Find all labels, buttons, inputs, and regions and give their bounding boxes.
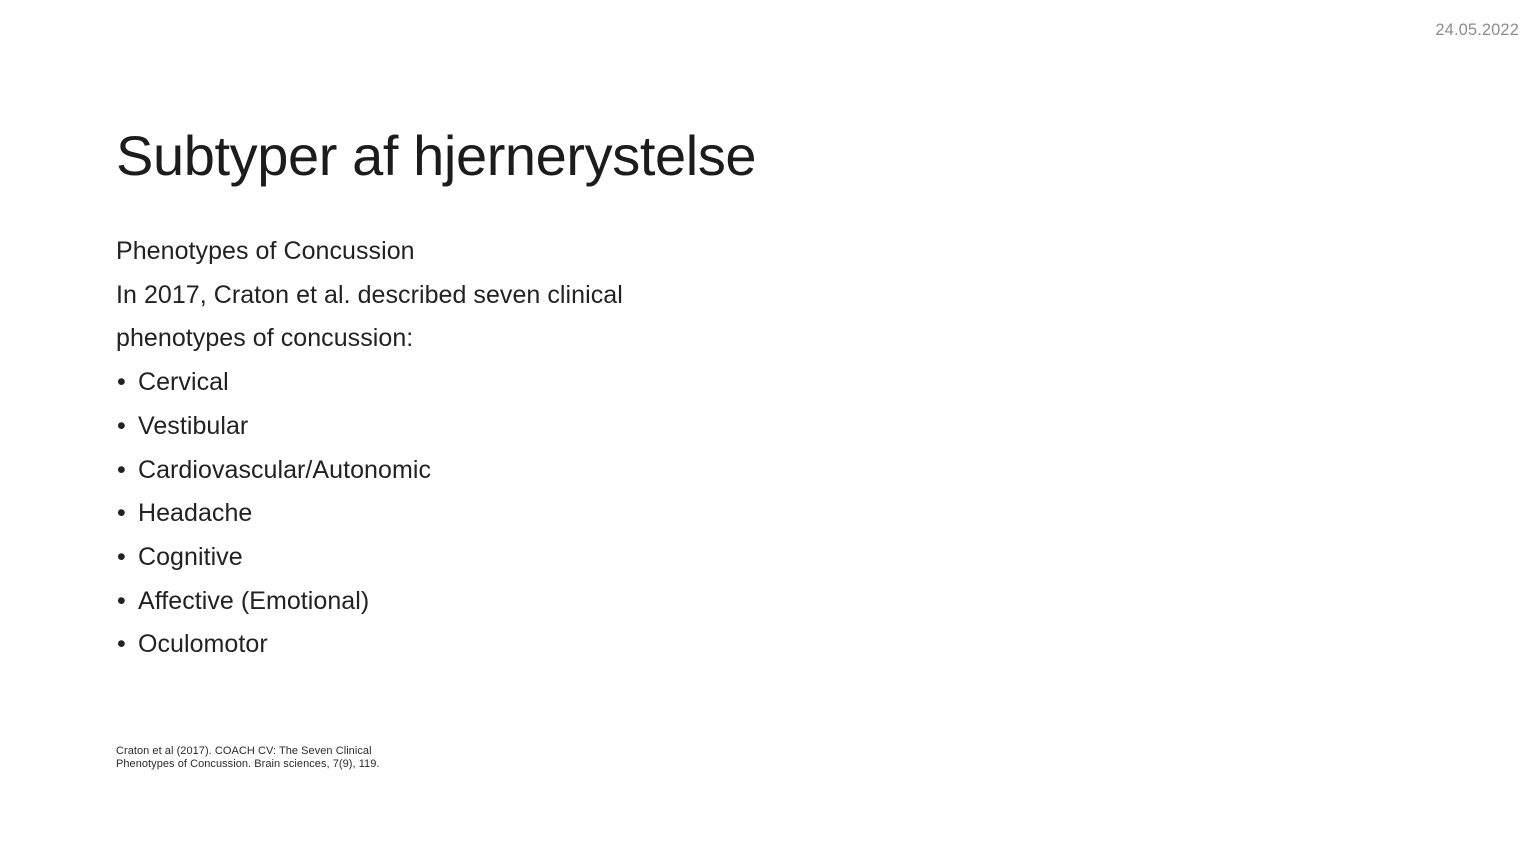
list-item: • Oculomotor <box>116 623 1016 667</box>
list-item-label: Cervical <box>138 368 229 396</box>
slide-date: 24.05.2022 <box>1435 19 1519 41</box>
citation-footnote: Craton et al (2017). COACH CV: The Seven… <box>116 745 379 771</box>
list-item: • Cognitive <box>116 536 1016 580</box>
page-title: Subtyper af hjernerystelse <box>116 121 756 191</box>
bullet-icon: • <box>117 623 126 667</box>
list-item-label: Cardiovascular/Autonomic <box>138 456 431 484</box>
list-item: • Vestibular <box>116 405 1016 449</box>
list-item-label: Vestibular <box>138 412 248 440</box>
list-item: • Cervical <box>116 361 1016 405</box>
presentation-slide: 24.05.2022 Subtyper af hjernerystelse Ph… <box>0 0 1536 864</box>
intro-line-3: phenotypes of concussion: <box>116 317 1016 361</box>
bullet-icon: • <box>117 449 126 493</box>
bullet-icon: • <box>117 492 126 536</box>
list-item: • Headache <box>116 492 1016 536</box>
intro-line-2: In 2017, Craton et al. described seven c… <box>116 274 1016 318</box>
list-item-label: Affective (Emotional) <box>138 587 369 615</box>
slide-body: Phenotypes of Concussion In 2017, Craton… <box>116 230 1016 667</box>
intro-line-1: Phenotypes of Concussion <box>116 230 1016 274</box>
list-item-label: Cognitive <box>138 543 243 571</box>
list-item: • Affective (Emotional) <box>116 580 1016 624</box>
bullet-icon: • <box>117 361 126 405</box>
citation-line-1: Craton et al (2017). COACH CV: The Seven… <box>116 745 379 758</box>
bullet-icon: • <box>117 536 126 580</box>
list-item-label: Headache <box>138 499 252 527</box>
list-item-label: Oculomotor <box>138 630 268 658</box>
list-item: • Cardiovascular/Autonomic <box>116 449 1016 493</box>
citation-line-2: Phenotypes of Concussion. Brain sciences… <box>116 758 379 771</box>
bullet-icon: • <box>117 405 126 449</box>
bullet-icon: • <box>117 580 126 624</box>
